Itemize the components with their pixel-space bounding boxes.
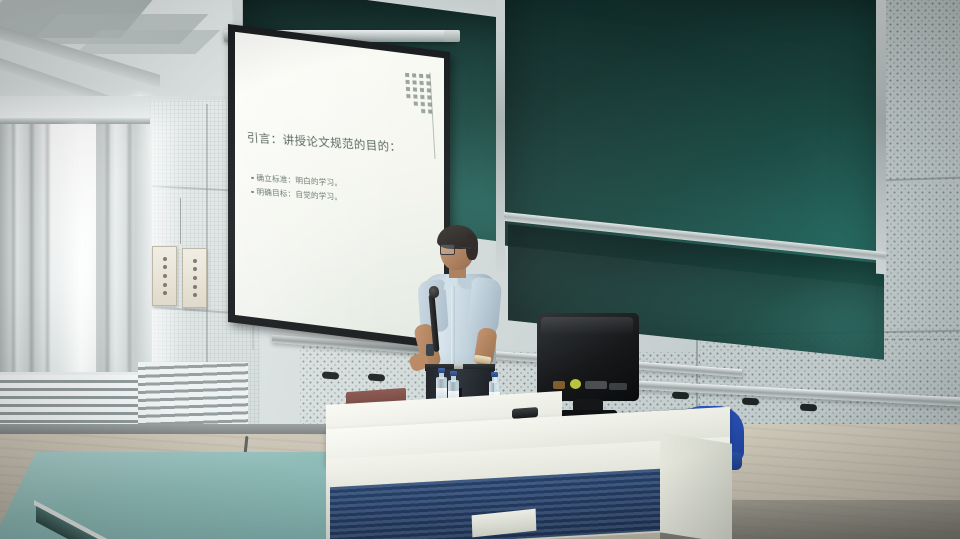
lecture-hall-photo: 引言：讲授论文规范的目的： 确立标准：明白的学习。 明确目标：自觉的学习。 — [0, 0, 960, 539]
board-frame-right — [876, 0, 886, 274]
bottle-cap — [491, 372, 498, 377]
bottle-cap — [438, 368, 445, 373]
ledge-clip — [322, 371, 339, 379]
curtain-fold — [10, 122, 17, 384]
bottle-neck — [439, 372, 444, 379]
shirt-placket — [451, 286, 455, 368]
monitor-port — [553, 381, 565, 389]
monitor-port — [609, 383, 627, 390]
window-glare — [58, 124, 104, 380]
glasses-bridge — [453, 248, 458, 249]
bottle-neck — [451, 375, 456, 382]
wall-scroll — [182, 248, 207, 308]
ledge-clip — [672, 392, 689, 400]
scroll-hook — [180, 198, 181, 244]
projector-screen-roller-end — [444, 30, 460, 42]
ceiling-recess — [76, 30, 221, 54]
scroll-glyphs — [156, 252, 173, 300]
slide-bullet-text: 确立标准：明白的学习。 — [256, 173, 342, 187]
ledge-clip — [742, 398, 759, 406]
curtain-fold — [126, 122, 133, 384]
wall-skirting — [0, 424, 340, 434]
bottle-cap — [450, 371, 457, 376]
ledge-clip — [800, 404, 817, 412]
slide-bullet-text: 明确目标：自觉的学习。 — [256, 187, 342, 201]
curtain-fold — [44, 122, 51, 384]
bullet-marker — [251, 191, 254, 194]
monitor-port — [570, 379, 581, 389]
slide-vertical-note — [396, 72, 434, 137]
curtain-left — [0, 122, 46, 384]
ledge-clip — [368, 373, 385, 381]
glasses-icon — [440, 244, 455, 255]
monitor-port — [585, 381, 607, 389]
bottle-neck — [492, 376, 497, 383]
curtain-fold — [28, 122, 35, 384]
bullet-marker — [251, 177, 254, 180]
podium-side-panel — [660, 432, 732, 539]
curtain-fold — [104, 122, 111, 384]
slide-vertical-column — [419, 74, 427, 137]
wall-scroll — [152, 246, 177, 306]
slide-vertical-column — [426, 74, 434, 137]
sleeve-right — [468, 277, 503, 335]
monitor-highlight — [541, 317, 633, 335]
scroll-glyphs — [186, 254, 203, 302]
